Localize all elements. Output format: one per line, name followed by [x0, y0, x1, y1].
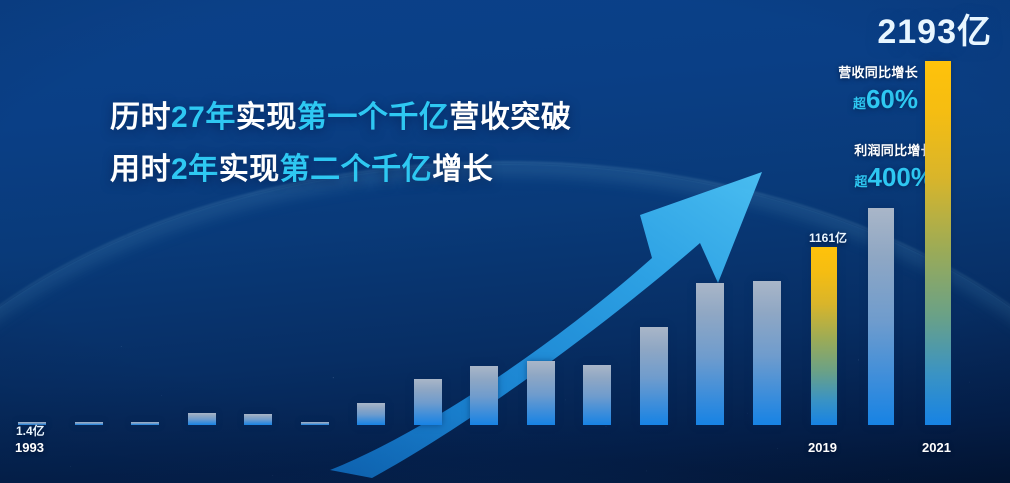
bar-1[interactable]: [75, 422, 103, 425]
axis-tick-label-1993: 1993: [15, 440, 44, 455]
infographic-canvas: 历时27年实现第一个千亿营收突破 用时2年实现第二个千亿增长 2193亿 营收同…: [0, 0, 1010, 483]
bar-10[interactable]: [583, 365, 611, 425]
bar-13[interactable]: [753, 281, 781, 425]
bar-5[interactable]: [301, 422, 329, 425]
bar-4[interactable]: [244, 414, 272, 425]
bar-chart: 1.4亿19931161亿20192021: [0, 0, 1010, 483]
bar-15[interactable]: [868, 208, 894, 425]
bar-3[interactable]: [188, 413, 216, 425]
bar-9[interactable]: [527, 361, 555, 425]
bar-8[interactable]: [470, 366, 498, 425]
bar-16[interactable]: [925, 61, 951, 425]
axis-tick-label-2019: 2019: [808, 440, 837, 455]
bar-6[interactable]: [357, 403, 385, 425]
bar-7[interactable]: [414, 379, 442, 425]
bar-14[interactable]: [811, 247, 837, 425]
bar-2[interactable]: [131, 422, 159, 425]
axis-tick-label-2021: 2021: [922, 440, 951, 455]
bar-value-label-14: 1161亿: [809, 229, 847, 246]
bar-value-label-0: 1.4亿: [16, 422, 45, 439]
bar-11[interactable]: [640, 327, 668, 425]
bar-12[interactable]: [696, 283, 724, 425]
